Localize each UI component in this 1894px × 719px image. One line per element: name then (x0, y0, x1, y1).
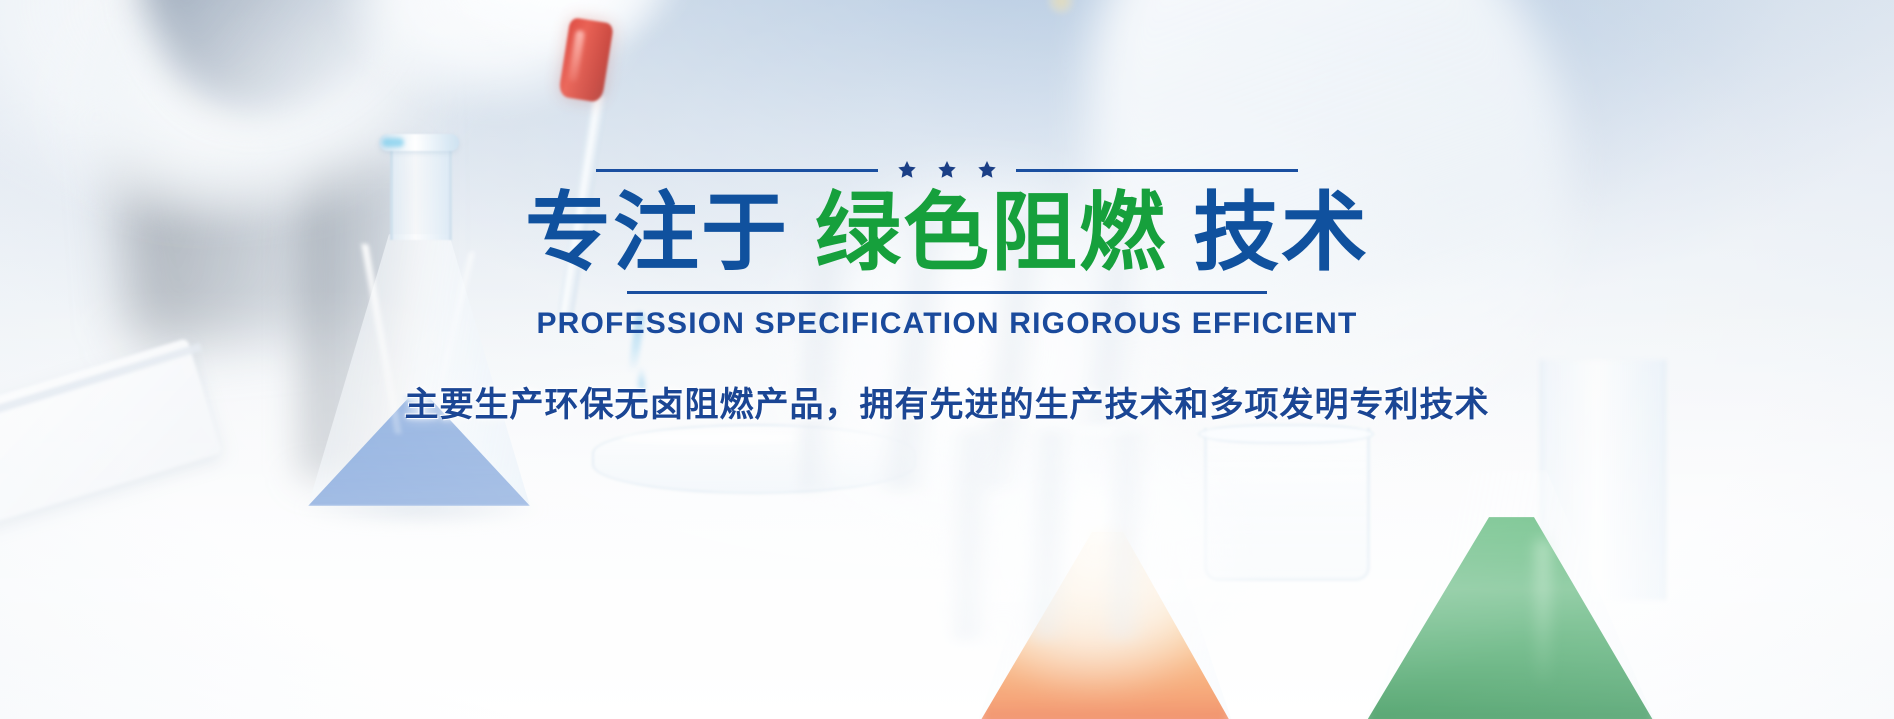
star-group (896, 159, 998, 181)
banner-tagline: 主要生产环保无卤阻燃产品，拥有先进的生产技术和多项发明专利技术 (0, 377, 1894, 426)
flask-green-highlight (1536, 540, 1550, 690)
title-underline (627, 291, 1267, 294)
flask-blue-lip-tint (382, 138, 404, 147)
star-icon (896, 159, 918, 181)
gloved-hand-bottom-right-fingers (950, 430, 1190, 640)
title-part-green-flame: 绿色阻燃 (815, 185, 1167, 281)
decorative-rule-row (0, 158, 1894, 182)
star-icon (936, 159, 958, 181)
page-title: 专注于绿色阻燃技术 (0, 188, 1894, 279)
erlenmeyer-flask-green (1360, 470, 1660, 719)
star-icon (976, 159, 998, 181)
banner-subtitle: PROFESSION SPECIFICATION RIGOROUS EFFICI… (0, 307, 1894, 341)
petri-dish-highlight (620, 432, 800, 444)
hero-banner: 专注于绿色阻燃技术 PROFESSION SPECIFICATION RIGOR… (0, 0, 1894, 719)
title-part-focus: 专注于 (525, 185, 789, 281)
rule-left (596, 169, 878, 172)
title-part-technology: 技术 (1193, 185, 1369, 281)
rule-right (1016, 169, 1298, 172)
banner-content: 专注于绿色阻燃技术 PROFESSION SPECIFICATION RIGOR… (0, 158, 1894, 426)
lab-coat-button (1048, 0, 1074, 14)
